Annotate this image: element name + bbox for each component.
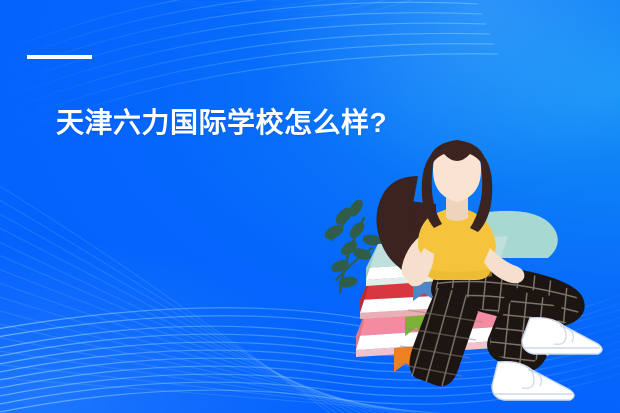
bookmark-blue: [413, 282, 434, 301]
title-accent-rule: [27, 55, 92, 59]
shoe-right: [522, 318, 602, 354]
page-title: 天津六力国际学校怎么样?: [56, 104, 387, 142]
background-sheen: [0, 0, 620, 413]
bookmark-green: [405, 315, 426, 336]
book-top: [366, 236, 508, 286]
book-bottom: [356, 298, 520, 357]
background-gradient: [0, 0, 620, 413]
leg-lower-front: [472, 280, 578, 382]
sleeve-left: [418, 218, 432, 256]
cushion: [430, 211, 558, 258]
ankle-left: [500, 368, 524, 390]
arm-back: [402, 236, 424, 280]
shoe-left: [492, 362, 574, 400]
leaf-sprigs-icon: [324, 199, 381, 292]
face: [433, 146, 481, 202]
left-sweep-arcs: [0, 150, 440, 413]
leg-lower-back: [398, 286, 482, 386]
hair-left-sweep: [376, 176, 418, 271]
hair-front: [428, 140, 487, 176]
background-line-pattern: [0, 0, 620, 413]
illustration-woman-sitting-on-book-stack: [0, 0, 620, 413]
leg-upper: [422, 254, 592, 340]
sleeve-right: [482, 218, 496, 258]
plaid-grid-lower-front: [472, 280, 578, 382]
arm-left-forearm: [407, 248, 434, 286]
plaid-grid-lower-back: [398, 288, 482, 386]
promo-banner: 天津六力国际学校怎么样?: [0, 0, 620, 413]
neck: [446, 194, 468, 221]
book-middle: [360, 266, 516, 319]
bottom-wave-lines: [0, 282, 620, 413]
ankle-right: [530, 330, 556, 356]
plaid-grid-upper: [422, 254, 592, 340]
hair-back: [377, 199, 436, 277]
hair-left-side: [422, 152, 442, 228]
bookmark-orange: [394, 346, 418, 372]
hair-right-side: [470, 152, 492, 232]
shirt: [424, 208, 495, 280]
arm-right-forearm: [484, 248, 524, 283]
